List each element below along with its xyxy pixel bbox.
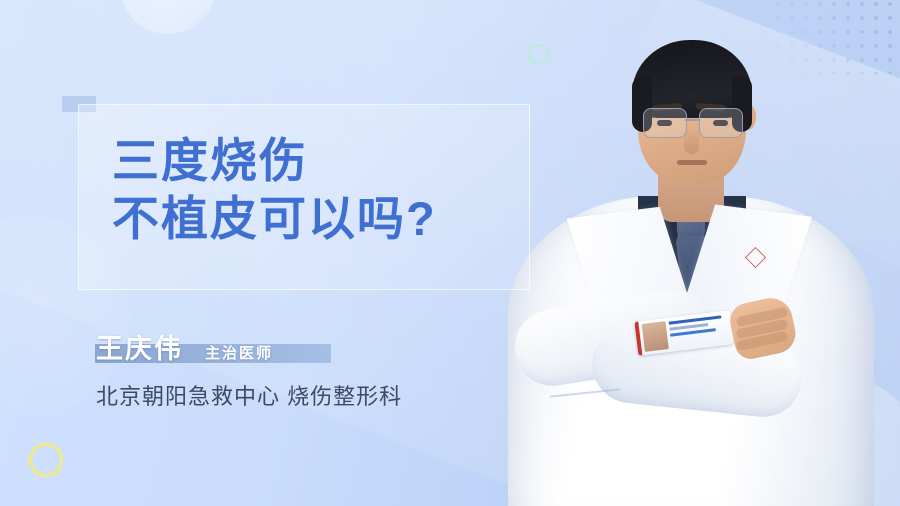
glasses-bridge: [685, 119, 699, 121]
badge-photo: [642, 321, 669, 352]
mouth: [677, 160, 707, 165]
glasses-lens-left: [643, 108, 687, 138]
title-line-2: 不植皮可以吗?: [112, 190, 542, 248]
title-line-1: 三度烧伤: [112, 132, 542, 190]
doctor-title: 主治医师: [205, 342, 273, 363]
nose: [684, 128, 699, 154]
glasses-lens-right: [699, 108, 743, 138]
doctor-name-row: 王庆伟 主治医师: [96, 327, 273, 366]
video-thumbnail: 三度烧伤 不植皮可以吗? 王庆伟 主治医师 北京朝阳急救中心 烧伤整形科: [0, 0, 900, 506]
page-title: 三度烧伤 不植皮可以吗?: [112, 132, 542, 248]
doctor-name: 王庆伟: [96, 327, 183, 366]
badge-line-1: [669, 315, 722, 324]
doctor-affiliation: 北京朝阳急救中心 烧伤整形科: [96, 379, 402, 411]
doctor-portrait: [480, 0, 900, 506]
yellow-ring-icon: [29, 443, 63, 477]
